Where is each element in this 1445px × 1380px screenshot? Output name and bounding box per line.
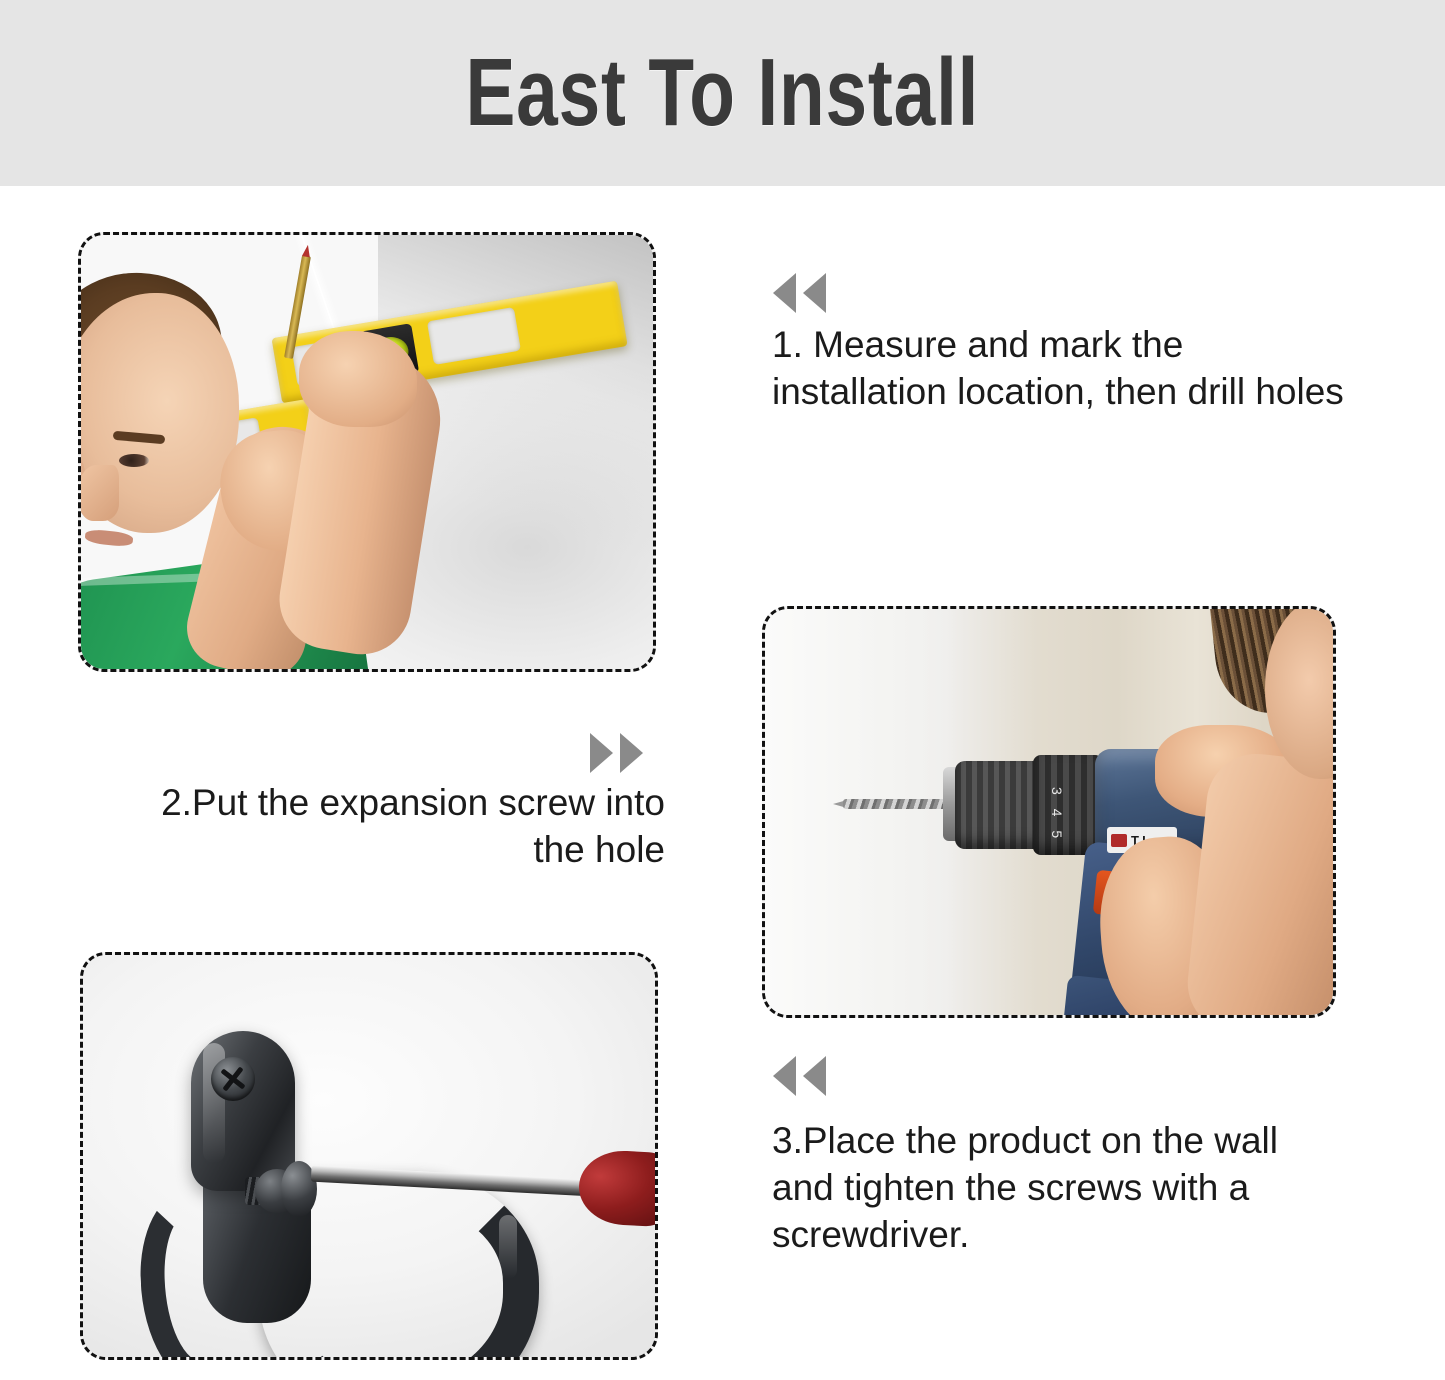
drill-chuck [955,761,1045,849]
eyebrow [113,431,166,444]
page-title: East To Install [466,45,980,141]
top-screw [211,1057,255,1101]
chevron-double-right-icon [590,733,643,773]
hook-backplate [191,1031,295,1191]
eye [119,454,149,467]
clutch-numbers: 3 4 5 [1049,787,1065,843]
right-fist [299,331,417,427]
chevron-right-icon [620,733,643,773]
chevron-right-icon [590,733,613,773]
chevron-double-left-icon [773,273,826,313]
chevron-left-icon [773,273,796,313]
photo-install-hook [80,952,658,1360]
step-1-text: 1. Measure and mark the installation loc… [772,322,1362,416]
step-3-label: 3.Place the product on the wall and tigh… [772,1120,1278,1255]
photo-drill-hole-content: 3 4 5 T.I. [765,609,1333,1015]
drill-bit [843,799,951,809]
nose [81,465,119,521]
photo-measure-and-mark [78,232,656,672]
step-1-label: 1. Measure and mark the installation loc… [772,324,1344,412]
header-band: East To Install [0,0,1445,186]
photo-measure-and-mark-content [81,235,653,669]
photo-install-hook-content [83,955,655,1357]
level-window [427,307,521,365]
chevron-left-icon [803,273,826,313]
photo-drill-hole: 3 4 5 T.I. [762,606,1336,1018]
step-3-text: 3.Place the product on the wall and tigh… [772,1118,1332,1259]
step-2-text: 2.Put the expansion screw into the hole [120,780,665,874]
drill-clutch-ring [1033,755,1103,855]
chevron-left-icon [773,1056,796,1096]
chevron-double-left-icon [773,1056,826,1096]
step-2-label: 2.Put the expansion screw into the hole [161,782,665,870]
brand-mark-icon [1111,834,1127,847]
chevron-left-icon [803,1056,826,1096]
